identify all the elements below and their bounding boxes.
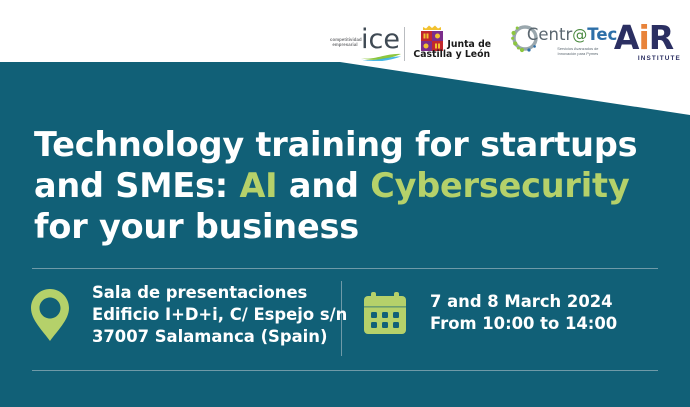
- junta-de-castilla-y-leon-logo: Junta de Castilla y León: [413, 22, 495, 66]
- centratec-tagline-line2: Innovación para Pymes: [558, 51, 599, 56]
- centratec-at-icon: @: [572, 26, 587, 44]
- centratec-wordmark: Centr@Tec: [527, 26, 617, 44]
- venue-icon-wrapper: [28, 287, 72, 343]
- centratec-tagline: Servicios Avanzados de Innovación para P…: [550, 47, 606, 57]
- logo-separator: [404, 27, 405, 61]
- ice-logo: competitividad empresarial ice: [330, 24, 395, 64]
- headline-accent-cybersecurity: Cybersecurity: [370, 166, 629, 205]
- junta-line2: Castilla y León: [413, 50, 505, 60]
- location-pin-icon: [28, 287, 72, 343]
- headline-line-3: for your business: [34, 206, 654, 247]
- schedule-line-1: 7 and 8 March 2024: [430, 291, 617, 313]
- air-letter-i: i: [638, 18, 648, 57]
- air-institute-subtitle: INSTITUTE: [636, 54, 683, 64]
- centratec-logo: Centr@Tec Servicios Avanzados de Innovac…: [510, 21, 596, 67]
- calendar-icon: [362, 290, 408, 336]
- headline-line2-pre: and SMEs:: [34, 166, 239, 205]
- venue-address: Sala de presentaciones Edificio I+D+i, C…: [92, 282, 347, 348]
- schedule-icon-wrapper: [362, 290, 408, 336]
- air-letter-r: R: [649, 18, 673, 57]
- venue-line-3: 37007 Salamanca (Spain): [92, 326, 347, 348]
- air-wordmark: AiR: [614, 21, 673, 55]
- ice-claim-text: competitividad empresarial: [330, 37, 360, 47]
- schedule-line-2: From 10:00 to 14:00: [430, 313, 617, 335]
- ice-claim-line2: empresarial: [332, 42, 357, 47]
- ice-swoosh-icon: [361, 53, 401, 61]
- event-banner: competitividad empresarial ice: [0, 0, 690, 407]
- bottom-divider-rule: [32, 370, 658, 371]
- air-letter-a: A: [614, 18, 639, 57]
- headline-accent-ai: AI: [239, 166, 277, 205]
- event-headline: Technology training for startups and SME…: [34, 124, 654, 247]
- centratec-word-first: Centr: [527, 25, 572, 44]
- headline-line2-mid: and: [277, 166, 370, 205]
- headline-line-1: Technology training for startups: [34, 124, 654, 165]
- ice-wordmark: ice: [361, 26, 400, 53]
- schedule-details: 7 and 8 March 2024 From 10:00 to 14:00: [430, 291, 617, 335]
- venue-info: Sala de presentaciones Edificio I+D+i, C…: [28, 282, 347, 348]
- partner-logo-strip: competitividad empresarial ice: [330, 20, 680, 68]
- air-institute-logo: AiR INSTITUTE: [612, 21, 680, 67]
- venue-line-2: Edificio I+D+i, C/ Espejo s/n: [92, 304, 347, 326]
- junta-wordmark: Junta de Castilla y León: [413, 40, 505, 61]
- schedule-info: 7 and 8 March 2024 From 10:00 to 14:00: [362, 290, 617, 336]
- venue-line-1: Sala de presentaciones: [92, 282, 347, 304]
- top-divider-rule: [32, 268, 658, 269]
- headline-line-2: and SMEs: AI and Cybersecurity: [34, 165, 654, 206]
